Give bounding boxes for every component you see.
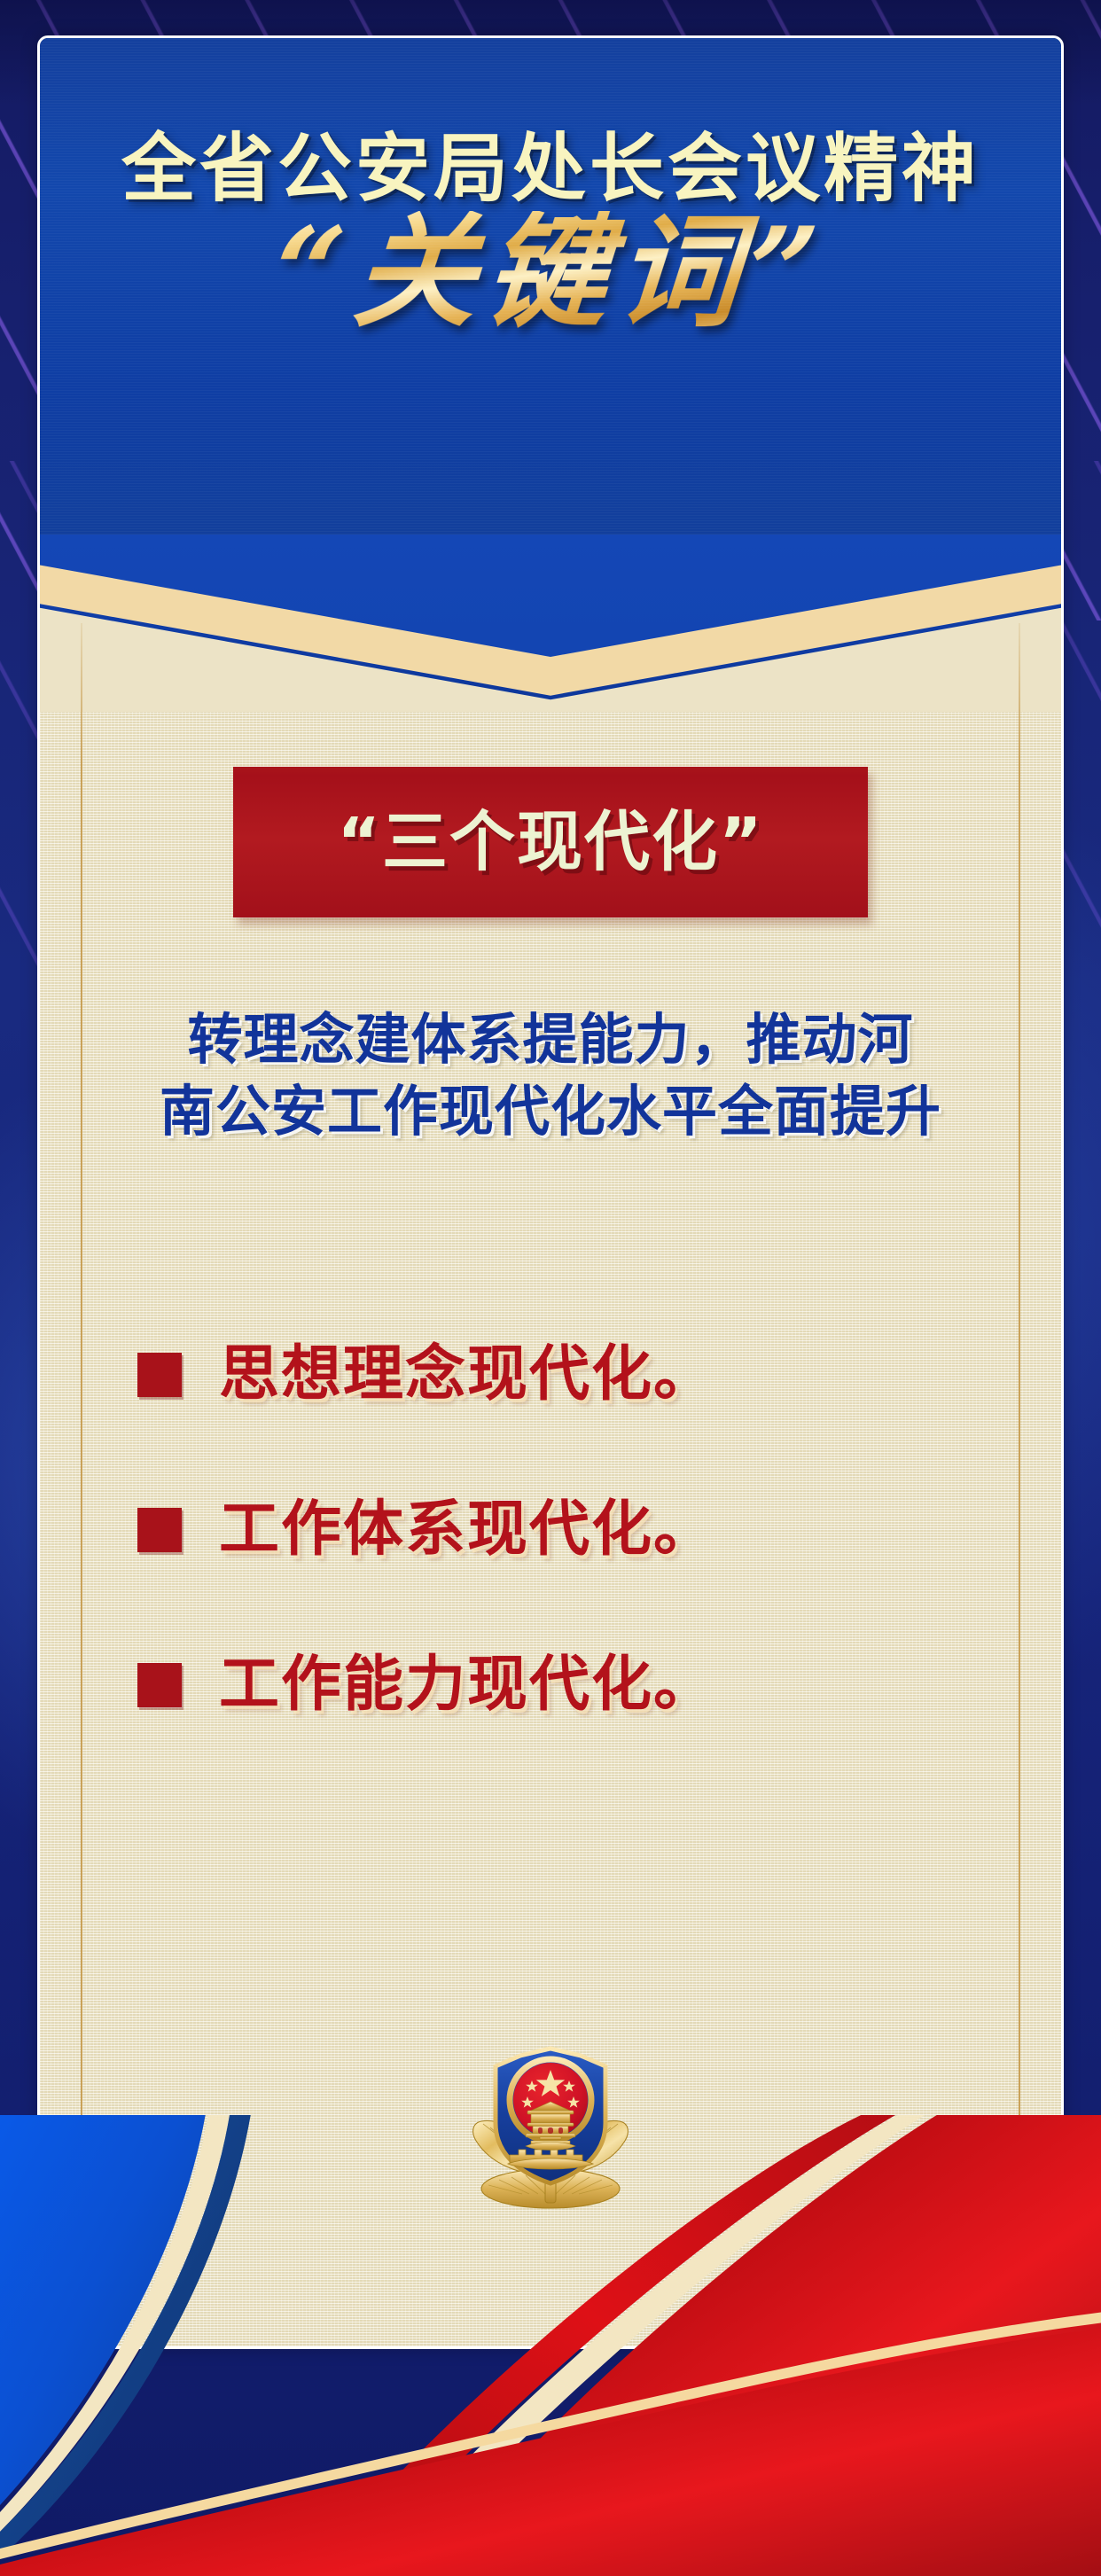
- keyword-calligraphy: “关键词”: [270, 211, 831, 333]
- page-title: 全省公安局处长会议精神: [40, 131, 1061, 206]
- bullet-list: 思想理念现代化。 工作体系现代化。 工作能力现代化。: [40, 1297, 1061, 1762]
- content-panel: “三个现代化” 转理念建体系提能力，推动河 南公安工作现代化水平全面提升 思想理…: [40, 712, 1061, 2349]
- keyword-block: “关键词”: [40, 211, 1061, 333]
- list-item-label: 思想理念现代化。: [219, 1345, 715, 1405]
- header-panel: 全省公安局处长会议精神 “关键词”: [40, 38, 1061, 535]
- list-item: 工作能力现代化。: [40, 1607, 1061, 1762]
- section-banner-label: “三个现代化”: [337, 809, 763, 875]
- section-banner: “三个现代化”: [233, 767, 868, 917]
- lead-paragraph: 转理念建体系提能力，推动河 南公安工作现代化水平全面提升: [111, 1004, 990, 1147]
- square-bullet-icon: [137, 1508, 182, 1552]
- list-item: 工作体系现代化。: [40, 1452, 1061, 1607]
- list-item-label: 工作能力现代化。: [219, 1655, 715, 1715]
- chevron-divider: [40, 535, 1061, 738]
- poster-root: 全省公安局处长会议精神 “关键词” “三个现代化” 转理念建体系提能力，推动河 …: [0, 0, 1101, 2576]
- bottom-ribbons: [0, 2115, 1101, 2576]
- square-bullet-icon: [137, 1663, 182, 1707]
- poster-card: 全省公安局处长会议精神 “关键词” “三个现代化” 转理念建体系提能力，推动河 …: [37, 35, 1064, 2349]
- list-item: 思想理念现代化。: [40, 1297, 1061, 1452]
- square-bullet-icon: [137, 1353, 182, 1397]
- lead-line-1: 转理念建体系提能力，推动河: [111, 1004, 990, 1076]
- list-item-label: 工作体系现代化。: [219, 1500, 715, 1560]
- lead-line-2: 南公安工作现代化水平全面提升: [111, 1076, 990, 1148]
